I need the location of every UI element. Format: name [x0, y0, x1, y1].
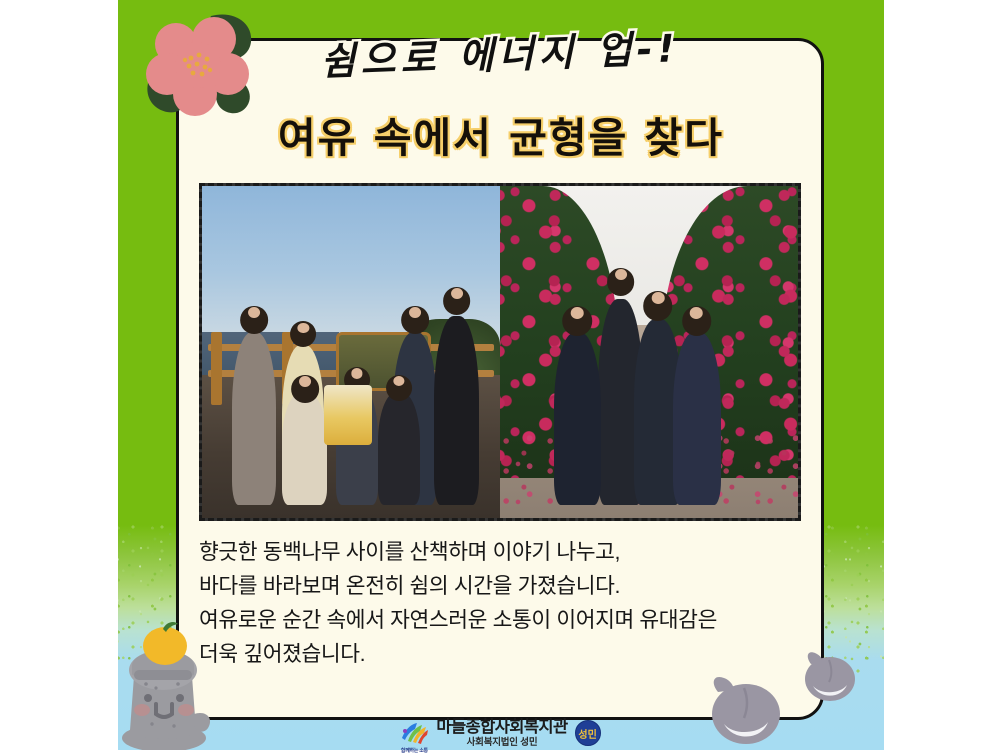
- footer-logo-bar: 함께하는 소통 마들종합사회복지관 사회복지법인 성민 성민: [115, 716, 885, 750]
- org-badge-glyph: 성민: [576, 721, 600, 745]
- photo-person: [554, 332, 602, 505]
- photo-strip: [199, 183, 801, 521]
- stone-bag-icon: [797, 648, 859, 702]
- letterbox-right: [884, 0, 1000, 750]
- body-line: 바다를 바라보며 온전히 쉼의 시간을 가졌습니다.: [199, 569, 811, 603]
- org-name: 마들종합사회복지관: [436, 719, 567, 736]
- body-paragraph: 향긋한 동백나무 사이를 산책하며 이야기 나누고, 바다를 바라보며 온전히 …: [199, 535, 811, 671]
- group-photo-lookout: [202, 186, 500, 518]
- body-line: 여유로운 순간 속에서 자연스러운 소통이 이어지며 유대감은: [199, 603, 811, 637]
- photo-banner: [324, 385, 372, 445]
- photo-person: [232, 332, 277, 505]
- photo-person: [434, 316, 479, 505]
- letterbox-left: [0, 0, 118, 750]
- page-title: 여유 속에서 균형을 찾다: [186, 104, 816, 164]
- org-logo-caption: 함께하는 소통: [399, 747, 429, 754]
- poster-root: 쉼으로 에너지 업-! 여유 속에서 균형을 찾다: [0, 0, 1000, 750]
- body-line: 더욱 깊어졌습니다.: [199, 637, 811, 671]
- photo-person: [673, 332, 721, 505]
- org-name-block: 마들종합사회복지관 사회복지법인 성민: [436, 719, 567, 748]
- photo-person: [378, 392, 420, 505]
- org-logo-mark-icon: 함께하는 소통: [399, 720, 429, 746]
- group-photo-camellia: [500, 186, 798, 518]
- body-line: 향긋한 동백나무 사이를 산책하며 이야기 나누고,: [199, 535, 811, 569]
- org-badge-icon: 성민: [575, 720, 601, 746]
- org-subtitle: 사회복지법인 성민: [467, 738, 538, 748]
- photo-person: [282, 392, 327, 505]
